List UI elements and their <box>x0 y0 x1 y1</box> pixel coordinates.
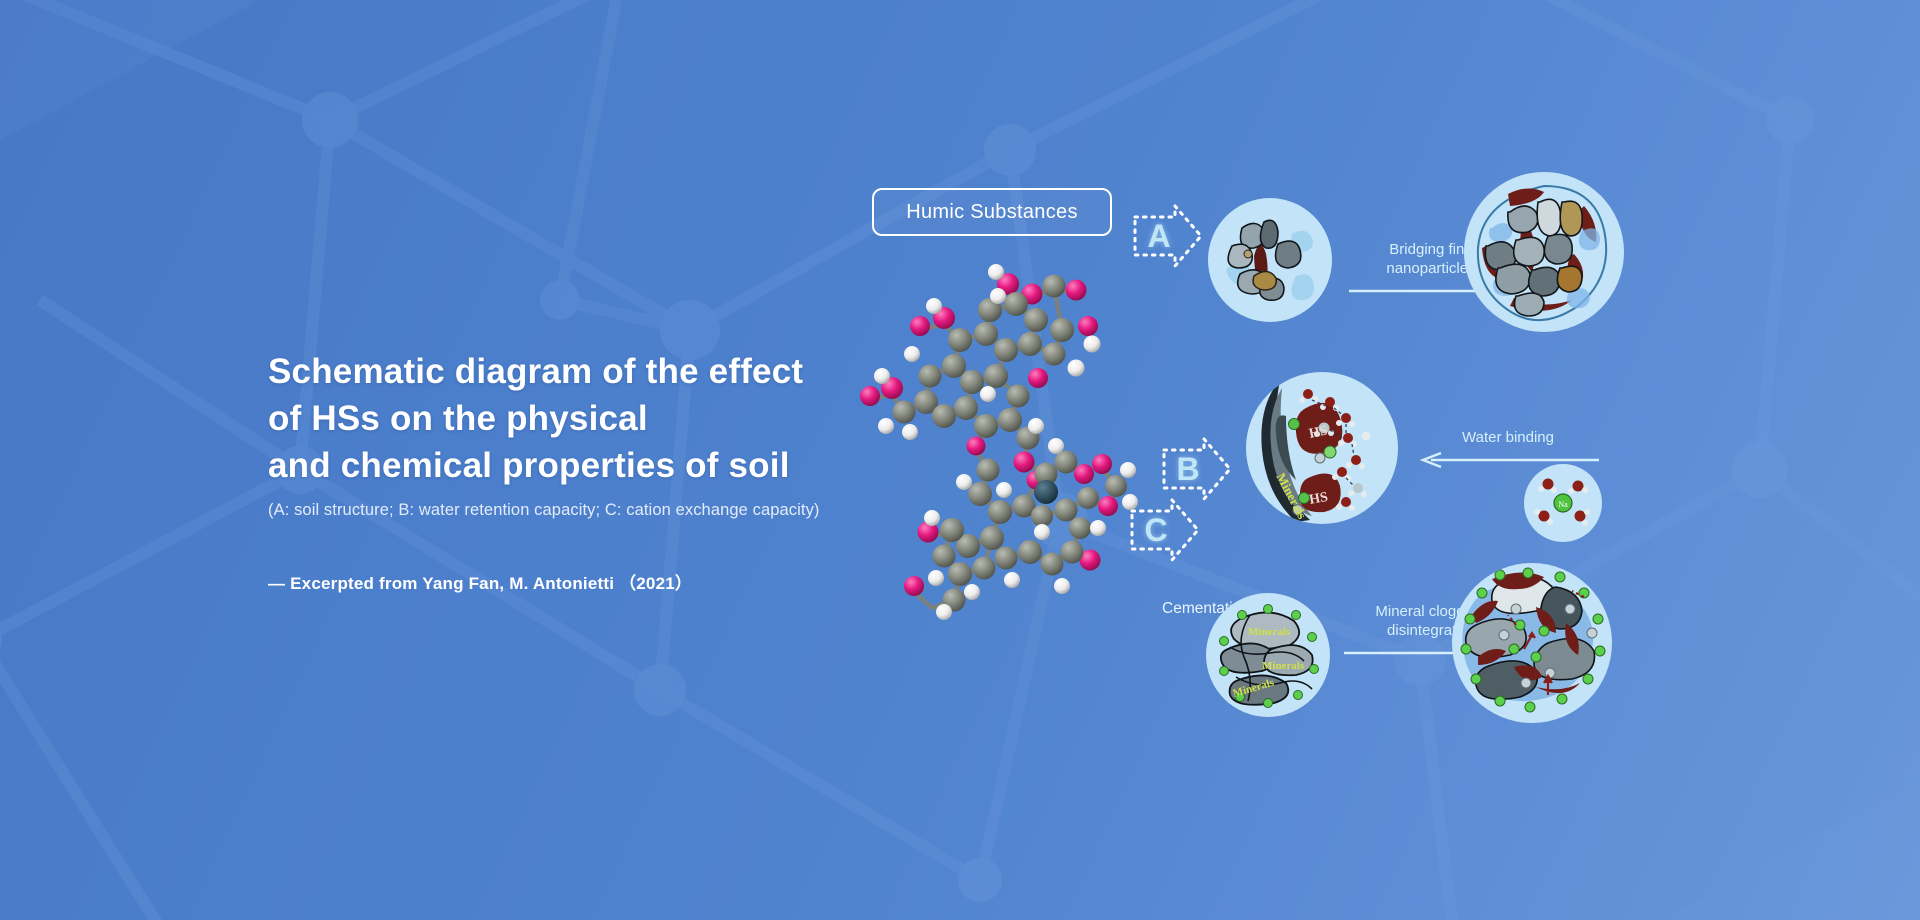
row-badge-c-letter: C <box>1128 497 1184 563</box>
humic-substances-label-text: Humic Substances <box>906 201 1078 224</box>
source-credit: — Excerpted from Yang Fan, M. Antonietti… <box>268 569 888 594</box>
hydrated-cation-illustration: Na <box>1524 464 1602 542</box>
circle-water-retention: HS HS Minerals <box>1246 372 1398 524</box>
circle-fine-nanoparticles <box>1208 198 1332 322</box>
cation-label: Na <box>1558 500 1568 509</box>
infographic-canvas: Schematic diagram of the effect of HSs o… <box>0 0 1920 920</box>
cemented-minerals-illustration: Minerals Minerals Minerals <box>1206 593 1330 717</box>
circle-hydrated-cation: Na <box>1524 464 1602 542</box>
circle-cation-exchange <box>1452 563 1612 723</box>
soil-aggregate-illustration <box>1464 172 1624 332</box>
humic-substance-molecule-model <box>840 230 1170 640</box>
water-retention-illustration: HS HS Minerals <box>1246 372 1398 524</box>
humic-substances-label: Humic Substances <box>872 188 1112 236</box>
fine-mineral-nanoparticles-illustration <box>1208 198 1332 322</box>
circle-soil-aggregate <box>1464 172 1624 332</box>
flow-b-label: Water binding <box>1413 428 1603 447</box>
headline-block: Schematic diagram of the effect of HSs o… <box>268 348 888 594</box>
flow-b: Water binding <box>1413 428 1603 468</box>
row-badge-b-letter: B <box>1160 436 1216 502</box>
row-badge-b: B <box>1160 436 1234 502</box>
page-title: Schematic diagram of the effect of HSs o… <box>268 348 888 489</box>
circle-cemented-minerals: Minerals Minerals Minerals <box>1206 593 1330 717</box>
row-badge-c: C <box>1128 497 1202 563</box>
row-badge-a: A <box>1131 203 1205 269</box>
cation-exchange-illustration <box>1452 563 1612 723</box>
row-badge-a-letter: A <box>1131 203 1187 269</box>
page-subtitle: (A: soil structure; B: water retention c… <box>268 499 888 521</box>
